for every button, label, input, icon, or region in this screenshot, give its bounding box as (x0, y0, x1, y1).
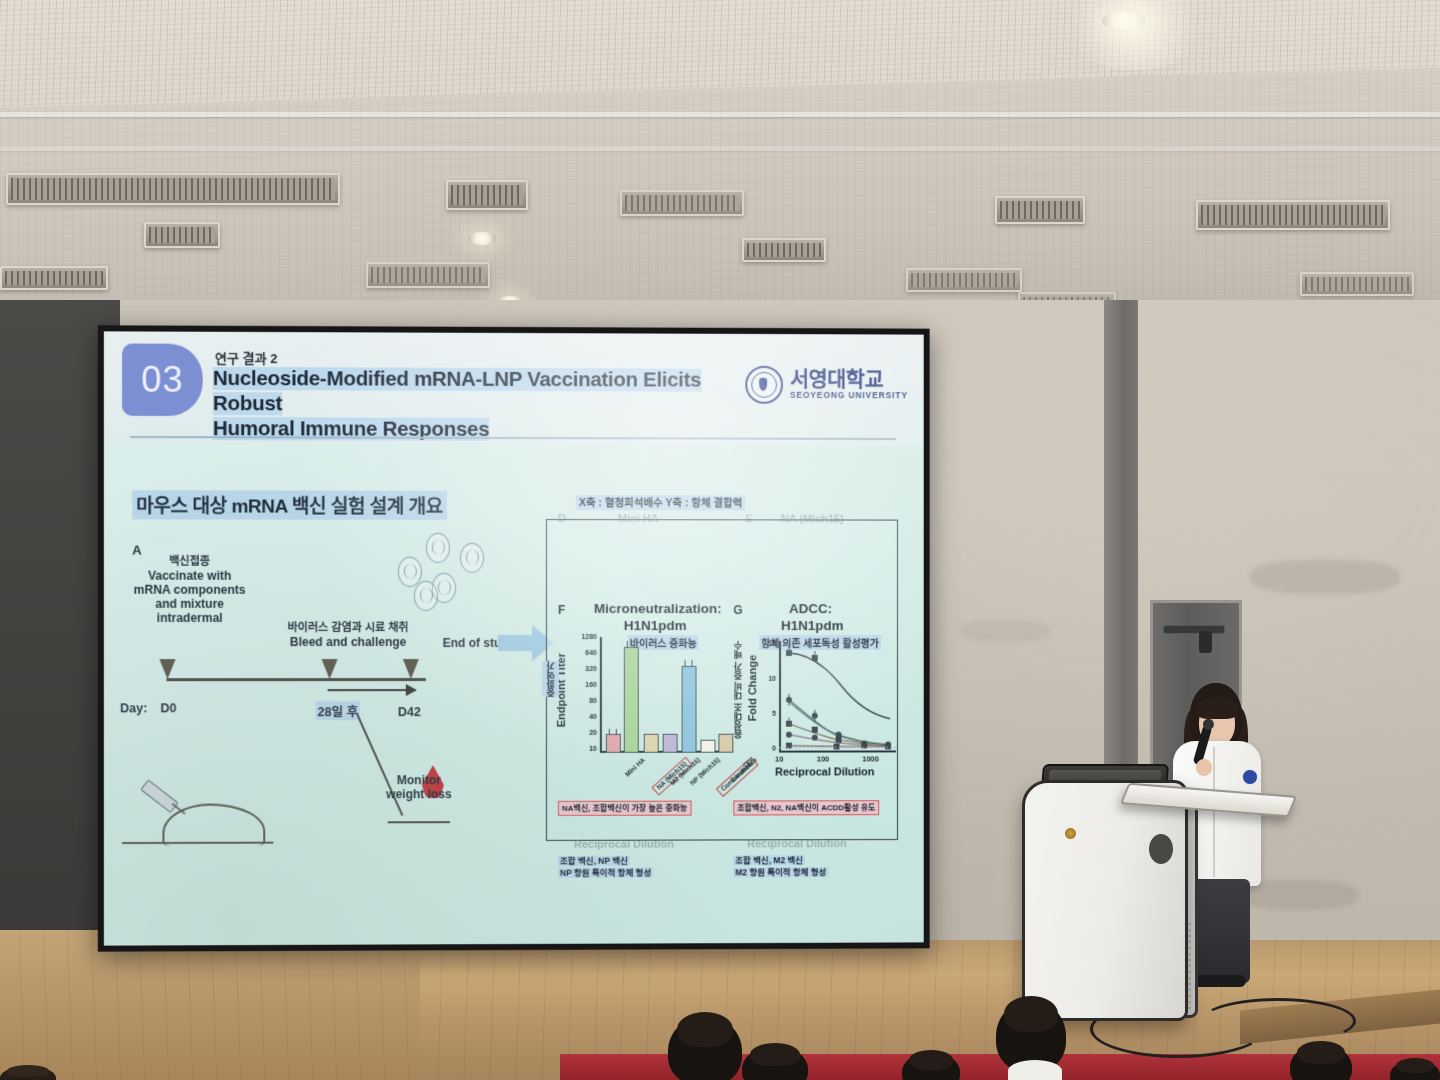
step1-label-ko: 백신접종 (114, 555, 265, 569)
step2-label-en: Bleed and challenge (265, 635, 431, 649)
ceiling-downlight (468, 232, 496, 245)
chart-f-ytick: 20 (575, 730, 597, 737)
timepoint-marker-d0 (159, 659, 175, 679)
door-handle-icon (1199, 631, 1212, 653)
lecture-hall-scene: 03 연구 결과 2 Nucleoside-Modified mRNA-LNP … (0, 0, 1440, 1080)
step1-label-en-3: and mixture (114, 597, 265, 611)
leader-underline (388, 821, 450, 823)
section-heading: 마우스 대상 mRNA 백신 실험 설계 개요 (132, 490, 447, 520)
audience-head (668, 1016, 742, 1080)
ghost-label-na: NA (Mich15) (781, 513, 844, 525)
chart-f-ytick: 640 (575, 650, 597, 657)
hidden-xlabel-left: Reciprocal Dilution (574, 839, 674, 851)
chart-g-xtick: 10 (775, 755, 783, 764)
step1-caption: 백신접종 Vaccinate with mRNA components and … (114, 555, 265, 625)
day-d0: D0 (160, 701, 176, 715)
chart-g-xtick: 100 (817, 755, 829, 764)
bottom-note-np-line1: 조합 백신, NP 백신 (558, 856, 630, 866)
virus-icon (414, 581, 438, 611)
monitor-line2: weight loss (374, 787, 464, 801)
university-name-en: SEOYEONG UNIVERSITY (790, 390, 908, 400)
podium (1022, 780, 1188, 1021)
callout-adcc: 조합백신, N2, NA백신이 ACDD활성 유도 (733, 800, 879, 815)
podium-speaker-grille (1149, 834, 1173, 864)
virus-icon (426, 533, 450, 563)
chart-f-y-axis (600, 637, 602, 751)
audience-head (902, 1052, 960, 1080)
presenter-shoes (1190, 975, 1246, 987)
chart-f-ytick: 10 (575, 746, 597, 753)
bottom-note-np: 조합 백신, NP 백신 NP 항원 특이적 항체 형성 (558, 855, 653, 879)
timeline-arrow (328, 689, 416, 691)
mouse-baseline (122, 842, 273, 844)
chart-g-title: ADCC: (789, 601, 832, 616)
bar-na-mich15 (624, 647, 639, 753)
chart-g-ylabel-ko: 음성대조 대비 증가 배수 (731, 641, 744, 738)
error-bar (616, 729, 617, 735)
audience-head (0, 1066, 56, 1080)
timepoint-marker-d28 (322, 659, 338, 679)
step1-label-en-2: mRNA components (114, 583, 265, 597)
ghost-label-minha: Mini HA (618, 513, 659, 525)
bar-combination (682, 666, 697, 753)
chart-f-xtick: Mini HA (624, 757, 647, 779)
chart-g-ytick: 10 (754, 676, 776, 683)
bar-np-mich15 (663, 734, 678, 753)
virus-particle-group (396, 533, 506, 613)
university-name-ko: 서영대학교 (790, 370, 908, 390)
step2-caption: 바이러스 감염과 시료 채취 Bleed and challenge (265, 621, 431, 649)
bar-mini-ha (606, 734, 621, 753)
ceiling-seam (0, 112, 1440, 117)
projected-slide: 03 연구 결과 2 Nucleoside-Modified mRNA-LNP … (104, 331, 924, 945)
chart-panel-f: F Microneutralization: H1N1pdm 바이러스 중화능 … (558, 601, 737, 791)
chart-g-ytick: 5 (754, 711, 776, 718)
university-logo: 서영대학교 SEOYEONG UNIVERSITY (745, 366, 908, 404)
series-combination (789, 653, 890, 719)
day-d28: 28일 후 (316, 701, 361, 720)
hidden-xlabel-right: Reciprocal Dilution (747, 838, 846, 850)
timeline-axis (166, 678, 425, 681)
chart-g-curves (779, 637, 898, 753)
audience-head (742, 1046, 808, 1080)
monitor-line1: Monitor (374, 773, 464, 787)
presenter-hand (1196, 759, 1212, 776)
ceiling-vent (0, 266, 108, 290)
chart-g-ytick: 15 (754, 641, 776, 648)
step2-label-ko: 바이러스 감염과 시료 채취 (265, 621, 431, 635)
bar-m2-mich15 (644, 734, 659, 753)
door-push-bar (1163, 625, 1225, 634)
chart-panel-g: G ADCC: H1N1pdm 항체 의존 세포독성 활성평가 Fold Cha… (733, 601, 902, 790)
ceiling-vent (906, 268, 1022, 292)
chart-f-ytick: 40 (575, 714, 597, 721)
floor-cable (1200, 998, 1356, 1044)
chart-f-ytick: 160 (575, 682, 597, 689)
podium-lock-icon (1065, 828, 1076, 839)
chart-f-xtick-highlight: NA (Mich15) (652, 757, 693, 796)
chart-g-ytick: 0 (754, 746, 776, 753)
audience-collar (1008, 1060, 1062, 1080)
section-number-badge: 03 (122, 343, 203, 416)
presenter-bangs (1196, 697, 1238, 719)
ceiling-vent (6, 173, 340, 205)
ghost-panel-e: E (745, 513, 752, 525)
ceiling-vent (620, 190, 744, 216)
error-bar (609, 729, 610, 735)
virus-icon (460, 543, 484, 573)
day-label: Day: (120, 701, 147, 715)
ceiling-seam (0, 146, 1440, 151)
chart-f-ylabel-ko: 중화역가 (542, 661, 559, 697)
chart-g-subtitle: H1N1pdm (781, 618, 844, 633)
bottom-note-m2-line2: M2 항원 특이적 항체 형성 (733, 867, 828, 877)
bar-luciferase (701, 740, 716, 753)
monitor-caption: Monitor weight loss (374, 773, 464, 801)
chart-f-subtitle: H1N1pdm (624, 618, 687, 633)
ceiling-vent (1300, 272, 1414, 296)
lab-coat-emblem-icon (1242, 769, 1258, 785)
error-bar (685, 660, 686, 667)
ceiling-vent (742, 238, 826, 262)
step1-label-en-1: Vaccinate with (114, 569, 265, 583)
university-crest-icon (745, 366, 783, 404)
error-bar (692, 660, 693, 667)
chart-f-ytick: 80 (575, 698, 597, 705)
ceiling-vent (446, 180, 528, 210)
step1-label-en-4: intradermal (114, 611, 265, 625)
bottom-note-np-line2: NP 항원 특이적 항체 형성 (558, 868, 653, 878)
bottom-note-m2: 조합 백신, M2 백신 M2 항원 특이적 항체 형성 (733, 854, 828, 878)
stage-floor-left (0, 930, 420, 1080)
page-title: Nucleoside-Modified mRNA-LNP Vaccination… (213, 366, 773, 443)
timepoint-marker-d42 (403, 659, 419, 679)
wall-scuff (960, 620, 1050, 642)
chart-g-xtick: 1000 (862, 754, 879, 763)
slide-kicker: 연구 결과 2 (215, 348, 278, 367)
ceiling-vent (366, 262, 490, 288)
day-d42: D42 (398, 705, 421, 719)
chart-f-ytick: 1280 (575, 634, 597, 641)
ceiling-vent (1196, 200, 1390, 230)
mouse-illustration (162, 804, 265, 846)
chart-f-title: Microneutralization: (594, 601, 722, 616)
error-bar (627, 641, 628, 648)
ghost-panel-d: D (558, 513, 566, 525)
bottom-note-m2-line1: 조합 백신, M2 백신 (733, 855, 805, 865)
ceiling-vent (144, 222, 220, 248)
audience-head (1290, 1044, 1352, 1080)
chart-f-ytick: 320 (575, 666, 597, 673)
axis-note: X축 : 혈청희석배수 Y축 : 항체 결합력 (576, 495, 745, 510)
error-bar (634, 641, 635, 648)
ceiling-vent (995, 196, 1085, 224)
chart-g-xlabel: Reciprocal Dilution (775, 766, 874, 778)
callout-neutralization: NA백신, 조합백신이 가장 높은 중화능 (558, 801, 691, 816)
panel-letter-f: F (558, 603, 565, 617)
wall-scuff (1250, 560, 1400, 594)
audience-head (1390, 1060, 1440, 1080)
projection-screen-frame: 03 연구 결과 2 Nucleoside-Modified mRNA-LNP … (98, 325, 930, 951)
panel-letter-g: G (733, 603, 742, 617)
slide-title-line1: Nucleoside-Modified mRNA-LNP Vaccination… (213, 367, 701, 415)
